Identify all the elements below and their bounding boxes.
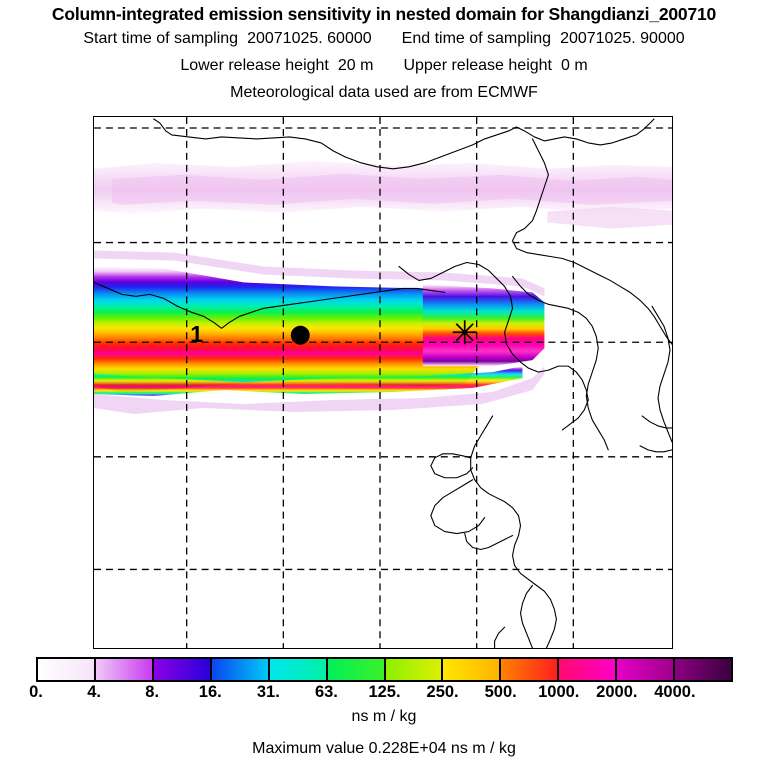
colorbar-segment-9 bbox=[559, 659, 617, 680]
map-plot-area[interactable]: 1 bbox=[93, 116, 673, 649]
colorbar-segment-10 bbox=[617, 659, 675, 680]
colorbar-segment-3 bbox=[212, 659, 270, 680]
marker-overlay: 1 bbox=[94, 117, 672, 648]
colorbar-tick-2: 8. bbox=[145, 683, 159, 702]
colorbar-segment-4 bbox=[270, 659, 328, 680]
start-time-label: Start time of sampling bbox=[83, 30, 238, 47]
colorbar-tick-7: 250. bbox=[427, 683, 459, 702]
colorbar-tick-6: 125. bbox=[368, 683, 400, 702]
colorbar-tick-11: 4000. bbox=[654, 683, 695, 702]
colorbar-segment-5 bbox=[328, 659, 386, 680]
maximum-value-label: Maximum value 0.228E+04 ns m / kg bbox=[0, 740, 768, 758]
release-height-line: Lower release height20 mUpper release he… bbox=[0, 57, 768, 75]
start-time-value: 20071025. 60000 bbox=[247, 30, 372, 47]
colorbar-segment-0 bbox=[38, 659, 96, 680]
station-dot-marker[interactable] bbox=[291, 326, 310, 345]
colorbar-tick-4: 31. bbox=[257, 683, 280, 702]
colorbar-segment-6 bbox=[386, 659, 444, 680]
colorbar-tick-labels: 0.4.8.16.31.63.125.250.500.1000.2000.400… bbox=[0, 683, 768, 703]
colorbar-tick-8: 500. bbox=[485, 683, 517, 702]
end-time-value: 20071025. 90000 bbox=[560, 30, 685, 47]
release-point-star-icon[interactable] bbox=[453, 320, 477, 344]
colorbar-units-label: ns m / kg bbox=[0, 708, 768, 726]
colorbar-segment-2 bbox=[154, 659, 212, 680]
colorbar-segment-1 bbox=[96, 659, 154, 680]
colorbar-tick-3: 16. bbox=[199, 683, 222, 702]
colorbar-tick-10: 2000. bbox=[596, 683, 637, 702]
colorbar-segment-11 bbox=[675, 659, 731, 680]
figure-root: Column-integrated emission sensitivity i… bbox=[0, 0, 768, 768]
colorbar-tick-5: 63. bbox=[315, 683, 338, 702]
colorbar-tick-9: 1000. bbox=[538, 683, 579, 702]
meteorological-data-line: Meteorological data used are from ECMWF bbox=[0, 84, 768, 102]
upper-release-label: Upper release height bbox=[403, 57, 552, 74]
sampling-time-line: Start time of sampling20071025. 60000End… bbox=[0, 30, 768, 48]
end-time-label: End time of sampling bbox=[402, 30, 551, 47]
colorbar-tick-1: 4. bbox=[87, 683, 101, 702]
colorbar bbox=[36, 657, 733, 682]
station-number-label: 1 bbox=[190, 321, 203, 347]
lower-release-label: Lower release height bbox=[180, 57, 329, 74]
colorbar-tick-0: 0. bbox=[29, 683, 43, 702]
colorbar-segment-8 bbox=[501, 659, 559, 680]
page-title: Column-integrated emission sensitivity i… bbox=[0, 4, 768, 25]
lower-release-value: 20 m bbox=[338, 57, 374, 74]
upper-release-value: 0 m bbox=[561, 57, 588, 74]
colorbar-segment-7 bbox=[443, 659, 501, 680]
